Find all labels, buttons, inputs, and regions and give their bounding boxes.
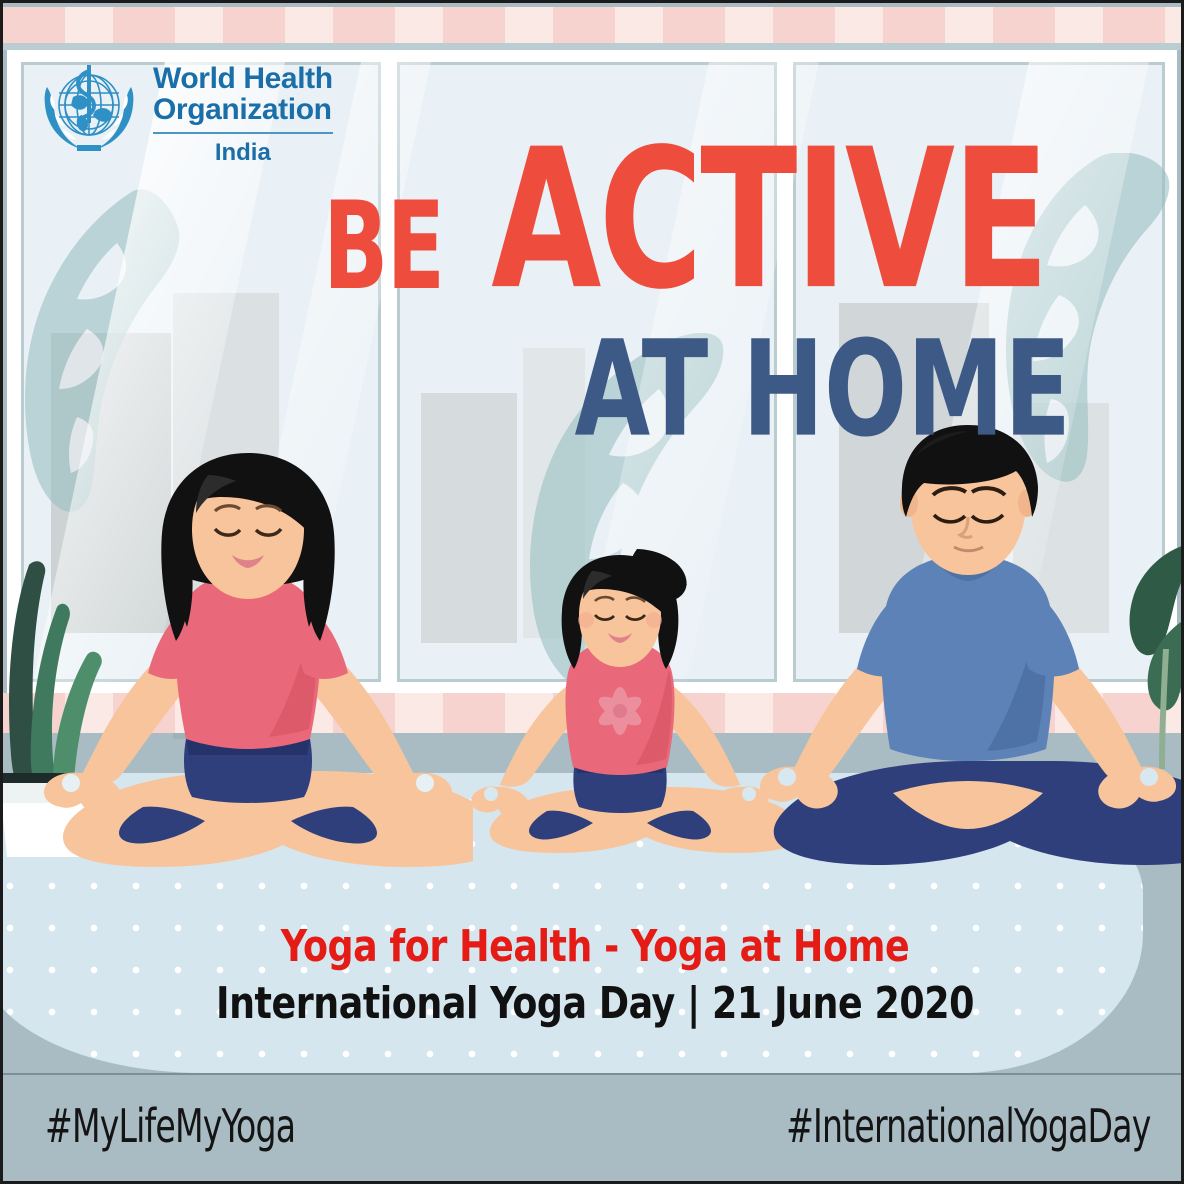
caption-block: Yoga for Health - Yoga at Home Internati…: [3, 921, 1184, 1029]
hashtag-mylifemyyoga: #MyLifeMyYoga: [45, 1099, 295, 1153]
headline-word-be: BE: [323, 177, 443, 317]
wall-tile-band-top: [3, 7, 1181, 43]
man-meditating: [743, 421, 1184, 891]
who-name-line1: World Health: [153, 63, 333, 94]
hashtag-bar: #MyLifeMyYoga #InternationalYogaDay: [3, 1073, 1181, 1181]
poster-canvas: World Health Organization India BEACTIVE…: [0, 0, 1184, 1184]
headline: BEACTIVE AT HOME: [3, 131, 1071, 466]
hashtag-internationalyogaday: #InternationalYogaDay: [787, 1099, 1151, 1153]
girl-meditating: [455, 543, 785, 883]
caption-line-1: Yoga for Health - Yoga at Home: [50, 921, 1139, 972]
wall-tile-edge: [3, 43, 1181, 50]
caption-line-2: International Yoga Day | 21 June 2020: [50, 978, 1139, 1029]
headline-line-1: BEACTIVE: [3, 131, 1071, 332]
woman-meditating: [23, 441, 473, 891]
who-name-line2: Organization: [153, 94, 333, 125]
headline-line-2: AT HOME: [88, 311, 1071, 466]
headline-word-active: ACTIVE: [491, 107, 1047, 332]
